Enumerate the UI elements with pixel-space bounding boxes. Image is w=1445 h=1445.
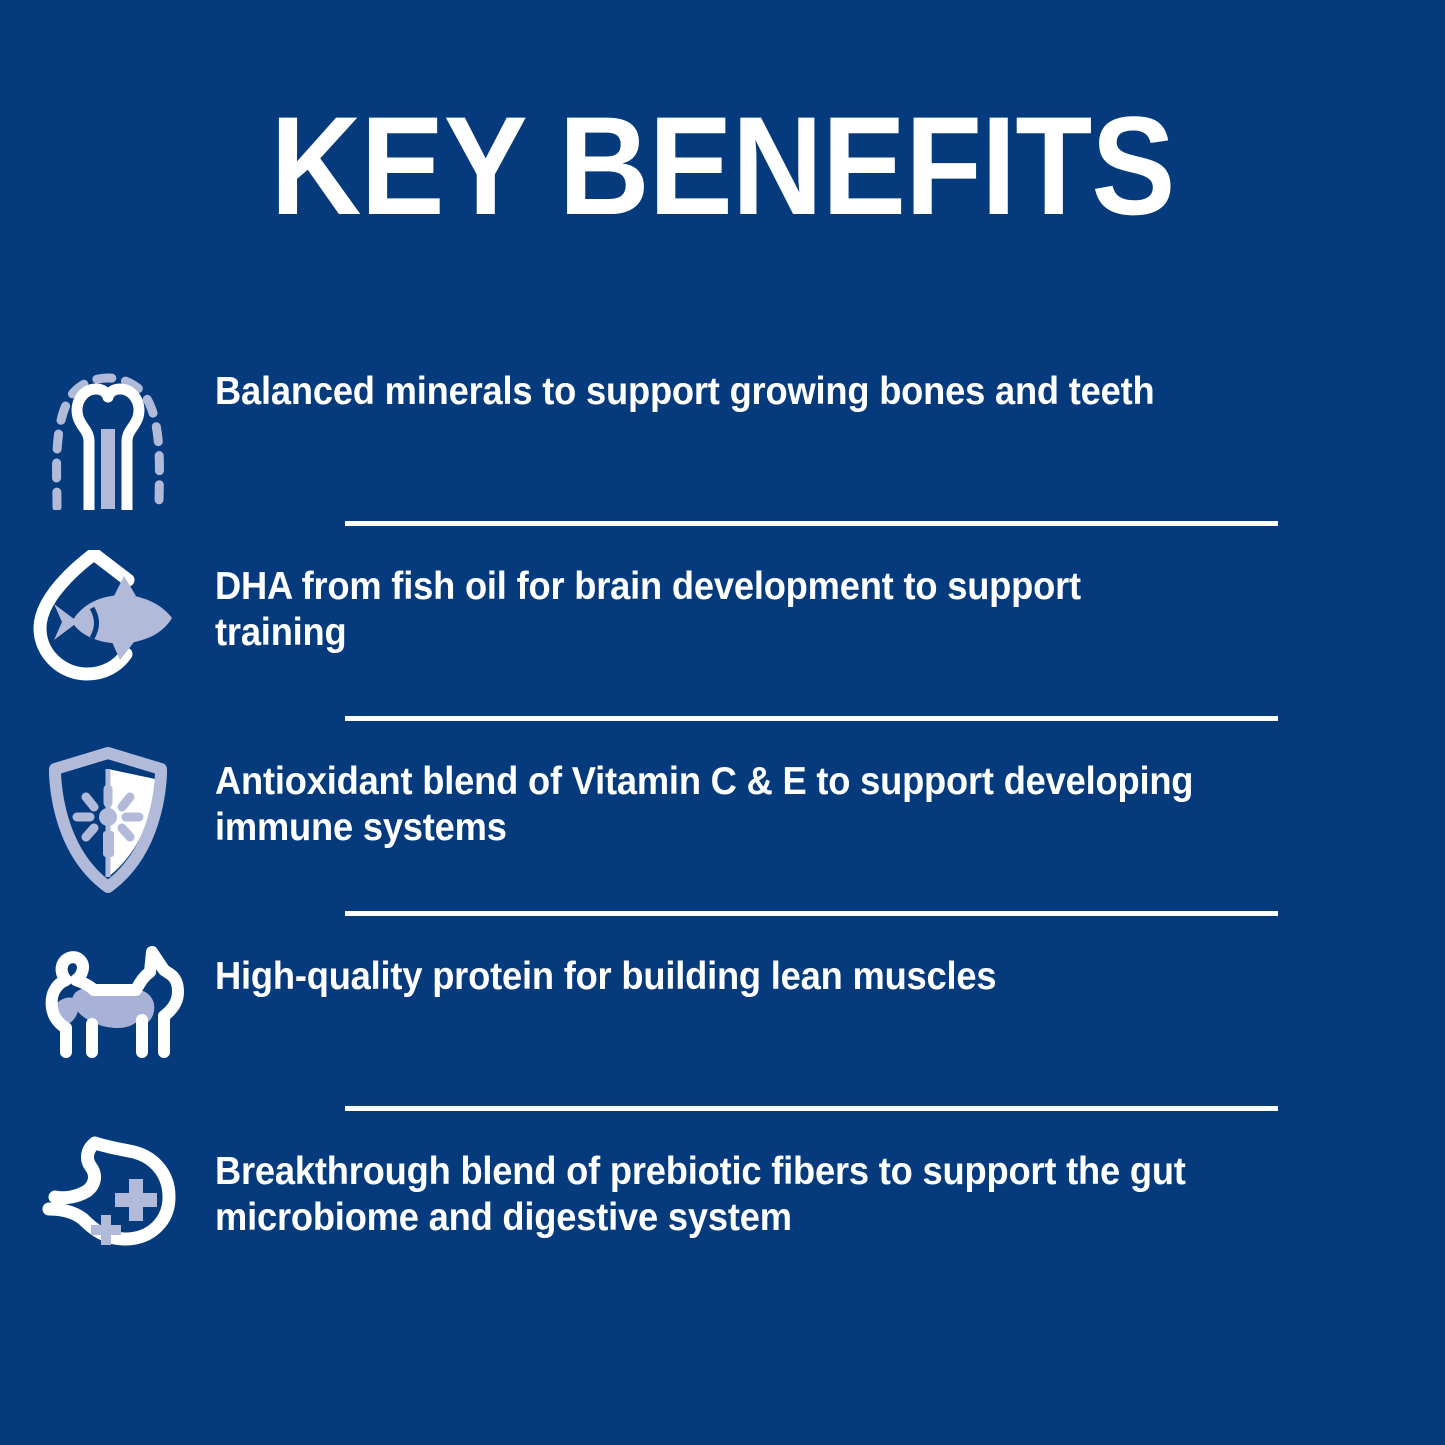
benefit-text-cell: High-quality protein for building lean m… [215, 930, 1445, 1000]
key-benefits-panel: KEY BENEFITS Balanced minerals to suppor… [0, 0, 1445, 1445]
benefit-text-cell: Balanced minerals to support growing bon… [215, 345, 1445, 415]
benefit-text-cell: DHA from fish oil for brain development … [215, 540, 1445, 656]
page-title: KEY BENEFITS [72, 96, 1373, 236]
benefit-label: Antioxidant blend of Vitamin C & E to su… [215, 759, 1210, 851]
benefit-label: Breakthrough blend of prebiotic fibers t… [215, 1149, 1210, 1241]
benefit-row: DHA from fish oil for brain development … [0, 540, 1445, 735]
benefit-label: DHA from fish oil for brain development … [215, 564, 1210, 656]
benefit-row: Breakthrough blend of prebiotic fibers t… [0, 1125, 1445, 1320]
dog-muscle-icon [0, 930, 215, 1062]
shield-antioxidant-icon [0, 735, 215, 895]
benefit-row: Balanced minerals to support growing bon… [0, 345, 1445, 540]
benefit-label: Balanced minerals to support growing bon… [215, 369, 1210, 415]
benefit-label: High-quality protein for building lean m… [215, 954, 1210, 1000]
bone-icon [0, 345, 215, 510]
fish-oil-droplet-icon [0, 540, 215, 685]
benefit-text-cell: Antioxidant blend of Vitamin C & E to su… [215, 735, 1445, 851]
benefit-row: High-quality protein for building lean m… [0, 930, 1445, 1125]
benefit-text-cell: Breakthrough blend of prebiotic fibers t… [215, 1125, 1445, 1241]
benefit-row: Antioxidant blend of Vitamin C & E to su… [0, 735, 1445, 930]
stomach-digestive-icon [0, 1125, 215, 1267]
benefits-list: Balanced minerals to support growing bon… [0, 345, 1445, 1320]
